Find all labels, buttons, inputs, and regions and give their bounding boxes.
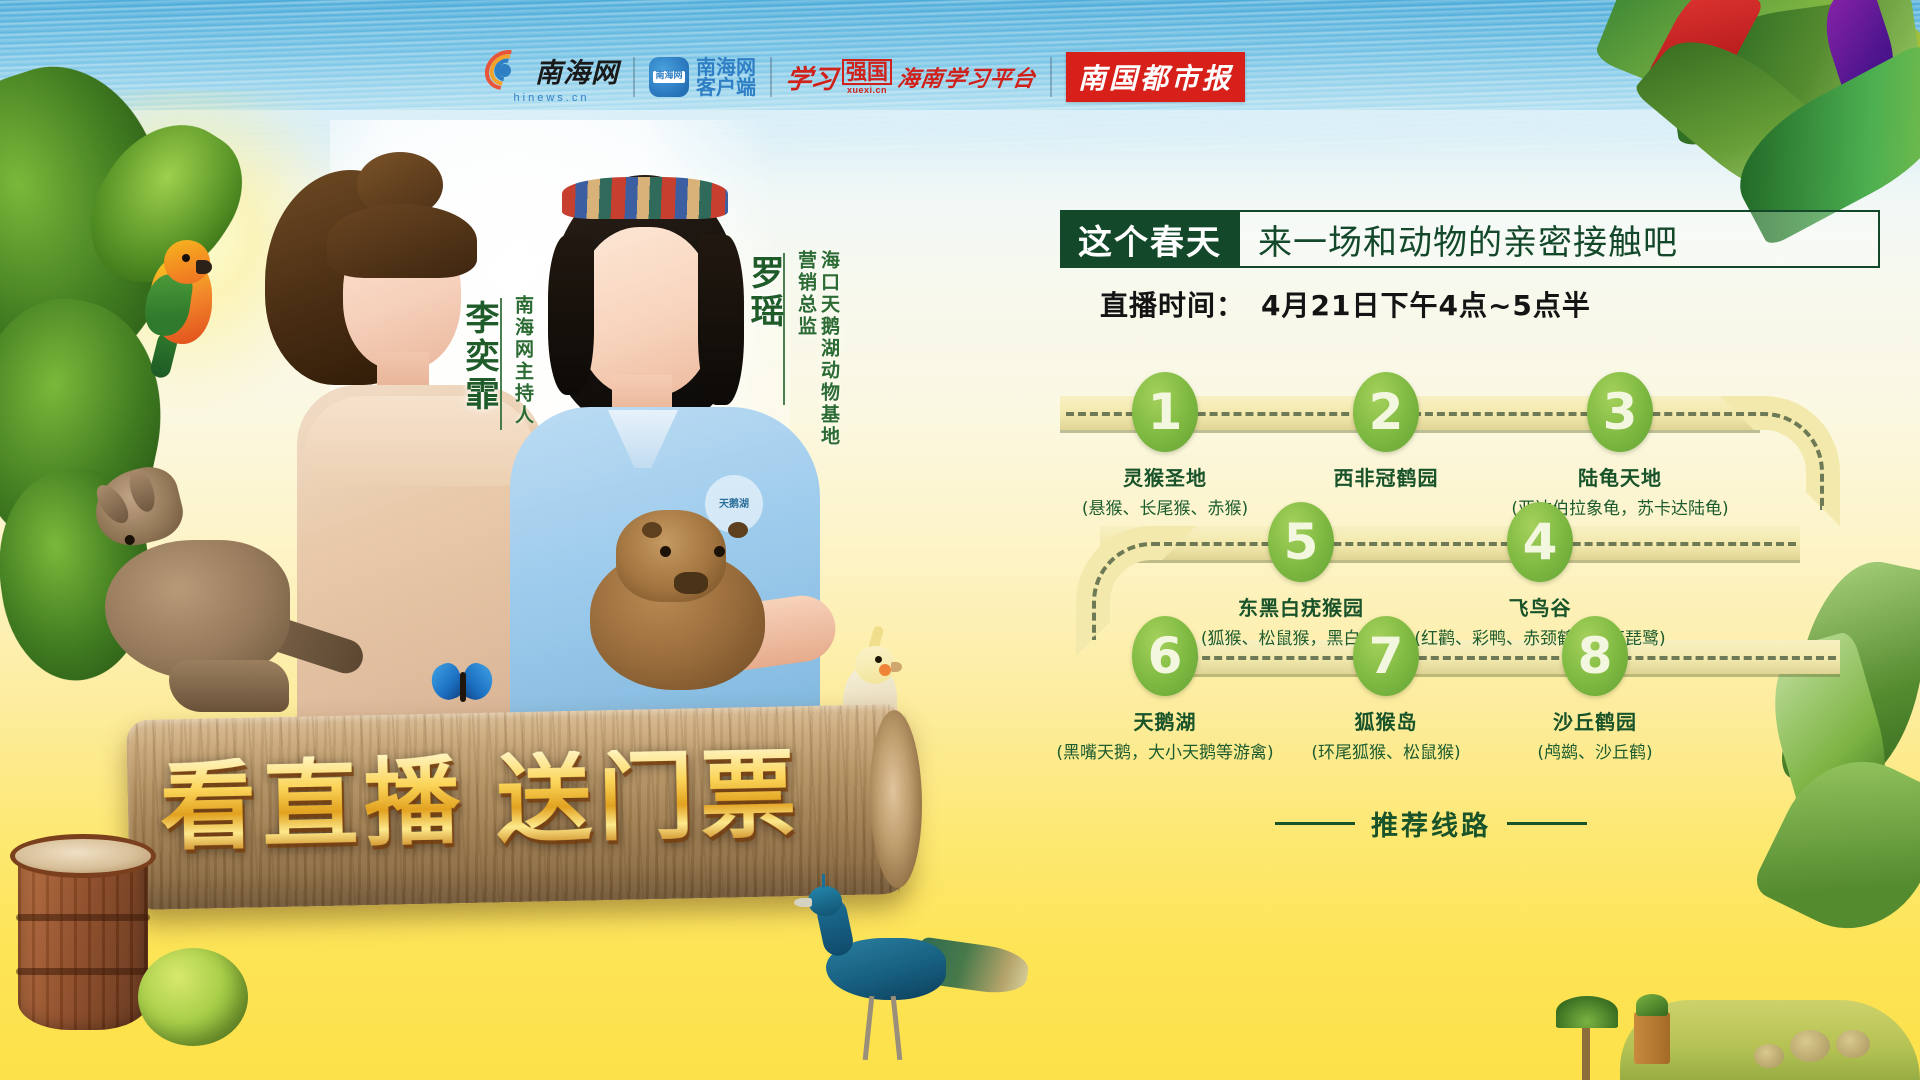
headband: [562, 177, 728, 219]
caption-rule-right: [1507, 822, 1587, 825]
model-2-role-line2: 海口天鹅湖动物基地: [816, 250, 843, 448]
small-palm-icon: [1582, 1020, 1590, 1080]
newspaper-name: 南国都市报: [1066, 52, 1245, 102]
cockatiel-cheek: [879, 664, 891, 676]
kangaroo-animal: [95, 430, 325, 760]
route-stop-3-name: 陆龟天地: [1470, 462, 1770, 491]
capybara-nose: [674, 572, 708, 594]
bottom-right-scenery: [1500, 930, 1920, 1080]
model-1-name: 李奕霏: [455, 300, 504, 414]
peacock-leg: [863, 996, 875, 1060]
broadcast-time-row: 直播时间： 4月21日下午4点~5点半: [1060, 284, 1880, 324]
capybara-animal: [590, 510, 780, 700]
broadcast-time-label: 直播时间：: [1100, 284, 1245, 324]
route-map: 1 灵猴圣地 (悬猴、长尾猴、赤猴) 2 西非冠鹤园 3 陆龟天地 (亚达伯拉象…: [1060, 354, 1880, 774]
rock-icon: [1836, 1030, 1870, 1058]
recommended-route-caption: 推荐线路: [1275, 804, 1587, 843]
butterfly-body: [460, 672, 466, 702]
logo-newspaper[interactable]: 南国都市报: [1052, 49, 1259, 105]
capybara-eye: [714, 546, 725, 557]
route-stop-3-label: 陆龟天地 (亚达伯拉象龟，苏卡达陆龟): [1470, 462, 1770, 519]
drum-band: [16, 968, 150, 975]
cockatiel-beak: [891, 662, 902, 672]
headline-text: 来一场和动物的亲密接触吧: [1240, 210, 1880, 268]
route-stop-4-label: 飞鸟谷 (红鹳、彩鸭、赤颈鹤，粉红琵鹭): [1390, 592, 1690, 649]
route-stop-4-name: 飞鸟谷: [1390, 592, 1690, 621]
model-2-name: 罗瑶: [740, 255, 789, 331]
route-stop-6-marker[interactable]: 6: [1132, 616, 1198, 696]
route-stop-3-marker[interactable]: 3: [1587, 372, 1653, 452]
peacock-crest: [822, 874, 825, 888]
peacock-head: [808, 886, 842, 916]
cockatiel-eye: [875, 656, 882, 663]
recommended-route-label: 推荐线路: [1371, 804, 1491, 843]
capybara-ear: [728, 522, 748, 538]
hair-left: [548, 235, 594, 395]
info-panel: 这个春天 来一场和动物的亲密接触吧 直播时间： 4月21日下午4点~5点半 1 …: [1060, 210, 1880, 880]
kangaroo-head: [87, 461, 188, 554]
route-dash-row3: [1166, 656, 1836, 660]
model-2-divider: [783, 253, 785, 405]
promo-poster: 南海网 hinews.cn 南海网 南海网 客户端 学习: [0, 0, 1920, 1080]
route-stop-5-marker[interactable]: 5: [1268, 502, 1334, 582]
slogan-part-1: 看直播: [159, 745, 467, 863]
kangaroo-ear: [91, 480, 135, 529]
headline: 这个春天 来一场和动物的亲密接触吧: [1060, 210, 1880, 268]
capybara-ear: [642, 522, 662, 538]
parrot-eye: [182, 254, 190, 262]
route-stop-8-animals: (鸬鹚、沙丘鹤): [1445, 738, 1745, 763]
main-slogan: 看直播送门票: [159, 744, 881, 855]
planter-box-icon: [1634, 1012, 1670, 1064]
kangaroo-leg: [169, 660, 289, 712]
route-stop-1-marker[interactable]: 1: [1132, 372, 1198, 452]
model-1-role: 南海网主持人: [510, 295, 537, 427]
capybara-head: [616, 510, 726, 602]
coconut-prop: [138, 948, 258, 1053]
peacock-beak: [794, 898, 812, 907]
butterfly-icon: [432, 660, 494, 712]
hair-right: [698, 235, 744, 405]
drum-head: [10, 834, 156, 878]
route-dash-row2: [1106, 542, 1796, 546]
model-1-divider: [500, 298, 502, 430]
slogan-part-2: 送门票: [495, 738, 803, 856]
kangaroo-eye: [124, 534, 136, 546]
route-stop-4-marker[interactable]: 4: [1507, 502, 1573, 582]
caption-rule-left: [1275, 822, 1355, 825]
route-stop-8-name: 沙丘鹤园: [1445, 706, 1745, 735]
capybara-eye: [660, 546, 671, 557]
route-stop-1-animals: (悬猴、长尾猴、赤猴): [1015, 494, 1315, 519]
drum-band: [16, 914, 150, 921]
peacock-bird-icon: [790, 880, 1020, 1080]
headline-badge: 这个春天: [1060, 210, 1240, 268]
route-stop-2-marker[interactable]: 2: [1353, 372, 1419, 452]
rock-icon: [1754, 1044, 1784, 1068]
route-stop-8-marker[interactable]: 8: [1562, 616, 1628, 696]
route-stop-7-marker[interactable]: 7: [1353, 616, 1419, 696]
parrot-beak: [196, 260, 212, 274]
face: [576, 227, 714, 397]
route-stop-4-animals: (红鹳、彩鸭、赤颈鹤，粉红琵鹭): [1390, 624, 1690, 649]
kangaroo-body: [105, 540, 290, 680]
route-stop-8-label: 沙丘鹤园 (鸬鹚、沙丘鹤): [1445, 706, 1745, 763]
rock-icon: [1790, 1030, 1830, 1062]
peacock-legs: [854, 996, 920, 1066]
coconut-body: [138, 948, 248, 1046]
kangaroo-ear: [125, 466, 160, 515]
hair-front: [327, 204, 477, 278]
parrot-bird-icon: [140, 240, 230, 370]
peacock-leg: [891, 996, 903, 1060]
broadcast-time-value: 4月21日下午4点~5点半: [1261, 284, 1591, 324]
